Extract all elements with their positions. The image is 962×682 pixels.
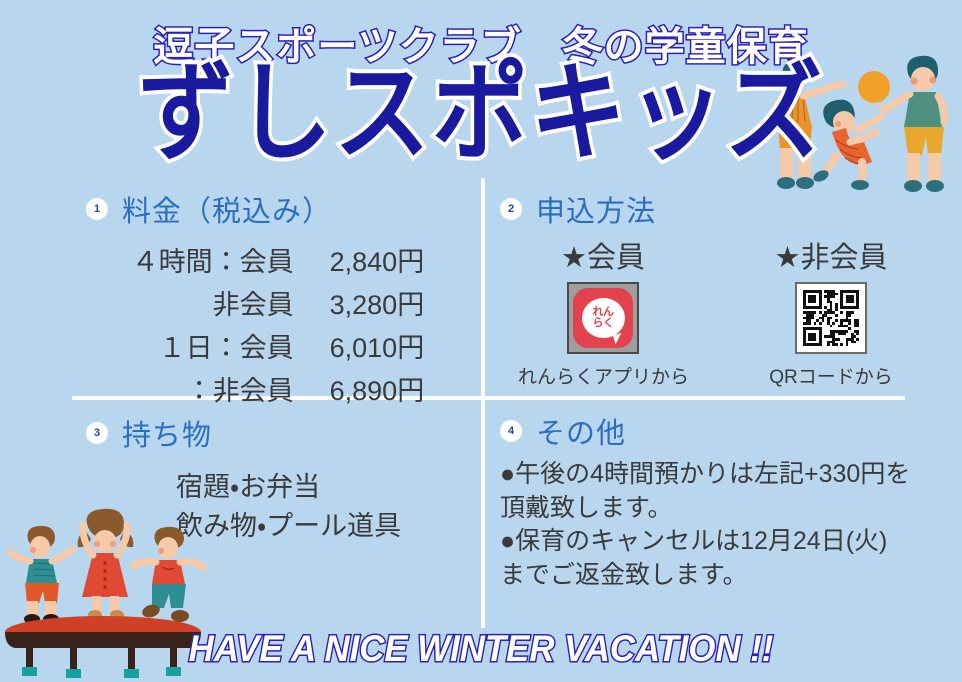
renraku-icon-line2: らく — [593, 318, 614, 329]
children-playing-ball-illustration — [762, 52, 962, 202]
table-row: 非会員 3,280円 — [86, 281, 446, 324]
fee-label: 非会員 — [86, 281, 330, 324]
note-line: ●保育のキャンセルは12月24日(火) — [500, 525, 950, 559]
section-items-title: 持ち物 — [122, 412, 212, 454]
fee-label: １日：会員 — [86, 324, 330, 367]
fee-value: 6,010円 — [330, 324, 446, 367]
vertical-divider — [481, 178, 485, 628]
apply-member-heading: ★会員 — [518, 234, 688, 276]
ball-icon — [858, 71, 890, 103]
fee-label: ４時間：会員 — [86, 238, 330, 281]
poster-canvas: 逗子スポーツクラブ 冬の学童保育 ずしスポキッズ 1 料金（税込み） ４時間：会… — [0, 0, 962, 682]
section-apply-title: 申込方法 — [536, 188, 656, 230]
apply-member-caption: れんらくアプリから — [518, 362, 688, 389]
child-right — [876, 56, 944, 192]
table-row: ：非会員 6,890円 — [86, 367, 446, 410]
child-trampoline-left — [10, 526, 72, 624]
fee-table: ４時間：会員 2,840円 非会員 3,280円 １日：会員 6,010円 ：非… — [86, 238, 446, 410]
apply-nonmember-caption: QRコードから — [746, 362, 916, 389]
apply-option-nonmember: ★非会員 QRコードから — [746, 234, 916, 389]
apply-options: ★会員 れん らく れんらくアプリから ★非会員 QRコードから — [500, 234, 940, 389]
section-number-badge: 2 — [500, 198, 522, 220]
section-fees: 1 料金（税込み） ４時間：会員 2,840円 非会員 3,280円 １日：会員… — [86, 188, 476, 410]
fee-value: 3,280円 — [330, 281, 446, 324]
other-notes: ●午後の4時間預かりは左記+330円を 頂戴致します。 ●保育のキャンセルは12… — [500, 458, 950, 592]
child-middle — [812, 100, 887, 190]
section-items-header: 3 持ち物 — [86, 412, 476, 454]
table-row: １日：会員 6,010円 — [86, 324, 446, 367]
speech-bubble-icon: れん らく — [582, 298, 625, 338]
apply-option-member: ★会員 れん らく れんらくアプリから — [518, 234, 688, 389]
note-line: ●午後の4時間預かりは左記+330円を — [500, 458, 950, 492]
renraku-app-icon-tile: れん らく — [573, 288, 633, 348]
section-fees-header: 1 料金（税込み） — [86, 188, 476, 230]
note-line: までご返金致します。 — [500, 559, 950, 593]
section-other: 4 その他 ●午後の4時間預かりは左記+330円を 頂戴致します。 ●保育のキャ… — [500, 410, 950, 592]
section-fees-title: 料金（税込み） — [122, 188, 332, 230]
child-trampoline-middle — [78, 509, 134, 620]
fee-label: ：非会員 — [86, 367, 330, 410]
apply-nonmember-heading: ★非会員 — [746, 234, 916, 276]
renraku-app-icon[interactable]: れん らく — [567, 282, 639, 354]
child-trampoline-right — [133, 527, 204, 622]
fee-value: 6,890円 — [330, 367, 446, 410]
qr-code-matrix — [803, 290, 859, 346]
section-other-header: 4 その他 — [500, 410, 950, 452]
section-number-badge: 4 — [500, 420, 522, 442]
list-item: 宿題・お弁当 — [176, 468, 476, 507]
fee-value: 2,840円 — [330, 238, 446, 281]
footer-slogan: HAVE A NICE WINTER VACATION !! — [29, 628, 933, 670]
section-number-badge: 3 — [86, 422, 108, 444]
section-other-title: その他 — [536, 410, 626, 452]
section-apply: 2 申込方法 ★会員 れん らく れんらくアプリから ★非会員 — [500, 188, 940, 389]
table-row: ４時間：会員 2,840円 — [86, 238, 446, 281]
qr-code-icon[interactable] — [795, 282, 867, 354]
note-line: 頂戴致します。 — [500, 492, 950, 526]
section-number-badge: 1 — [86, 198, 108, 220]
